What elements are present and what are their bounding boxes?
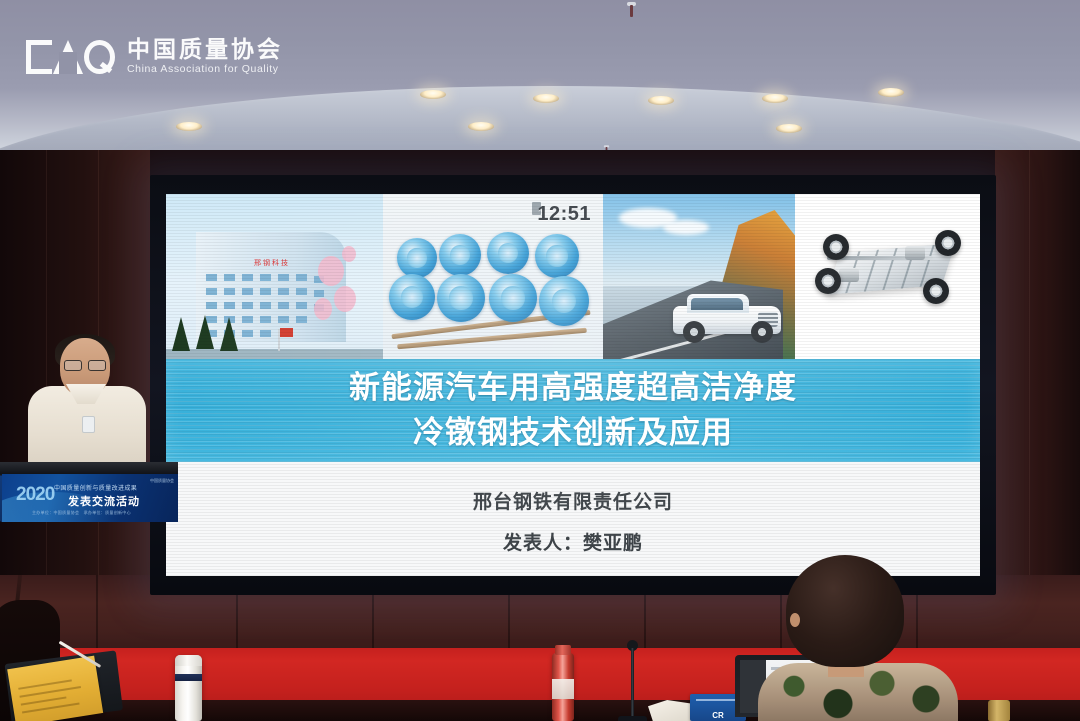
building-sign: 邢钢科技 (254, 258, 290, 268)
ceiling-downlight (776, 124, 802, 133)
podium-banner: 2020 中国质量创新与质量改进成果 发表交流活动 主办单位：中国质量协会 承办… (2, 474, 178, 522)
podium-banner-mainline: 发表交流活动 (68, 493, 140, 509)
podium-banner-year: 2020 (16, 484, 54, 506)
slide-photo-strip: 邢钢科技 (166, 194, 980, 359)
watermark-en-name: China Association for Quality (127, 63, 283, 76)
wheel-shape (923, 278, 949, 304)
red-water-bottle[interactable] (552, 653, 574, 721)
badge (82, 416, 95, 433)
tree-shape (196, 315, 214, 349)
wheel-shape (935, 230, 961, 256)
glass-jar (988, 700, 1010, 721)
wheel-shape (815, 268, 841, 294)
right-wall (995, 150, 1080, 630)
podium-banner-logo: 中国质量协会 (150, 478, 174, 484)
watermark-cn-name: 中国质量协会 (127, 38, 283, 63)
slide-title-band: 新能源汽车用高强度超高洁净度 冷镦钢技术创新及应用 (166, 359, 980, 462)
tree-shape (172, 317, 190, 351)
podium-banner-topline: 中国质量创新与质量改进成果 (54, 483, 137, 492)
ceiling-downlight (176, 122, 202, 131)
seated-attendee-foreground (770, 555, 970, 721)
slide-title-line2: 冷镦钢技术创新及应用 (413, 411, 733, 456)
podium: 2020 中国质量创新与质量改进成果 发表交流活动 主办单位：中国质量协会 承办… (0, 462, 178, 522)
conference-hall-scene: 邢钢科技 (0, 0, 1080, 721)
suv-shape (673, 293, 781, 343)
laptop-left-with-yellow-notes[interactable] (5, 650, 124, 721)
white-suv-mountain-road-photo (603, 194, 795, 359)
ceiling-downlight (648, 96, 674, 105)
caq-watermark-logo: 中国质量协会 China Association for Quality (26, 30, 283, 84)
ceiling-downlight (420, 90, 446, 99)
hair (786, 555, 904, 667)
white-thermos-flask[interactable] (175, 655, 202, 721)
slide-presenter: 发表人：樊亚鹏 (166, 528, 980, 555)
gooseneck-microphone[interactable] (630, 630, 635, 721)
ceiling-downlight (533, 94, 559, 103)
blue-wrapped-steel-coils-photo: 12:51 (383, 194, 603, 359)
sprinkler-icon (627, 2, 636, 18)
ceiling-downlight (878, 88, 904, 97)
building-shape: 邢钢科技 (196, 232, 346, 342)
tree-shape (220, 317, 238, 351)
ev-battery-chassis-photo (795, 194, 980, 359)
ceiling-downlight (468, 122, 494, 131)
slide-title-line1: 新能源汽车用高强度超高洁净度 (349, 366, 797, 411)
flag-icon (280, 328, 293, 337)
ceiling-downlight (762, 94, 788, 103)
presentation-screen[interactable]: 邢钢科技 (166, 194, 980, 576)
clock-time: 12:51 (537, 203, 591, 226)
glasses-icon (64, 360, 106, 369)
wheel-shape (823, 234, 849, 260)
podium-banner-subline: 主办单位：中国质量协会 承办单位：质量创新中心 (32, 510, 131, 516)
slide-organization: 邢台钢铁有限责任公司 (166, 487, 980, 514)
office-building-photo: 邢钢科技 (166, 194, 383, 359)
caq-logo-mark (26, 40, 115, 74)
